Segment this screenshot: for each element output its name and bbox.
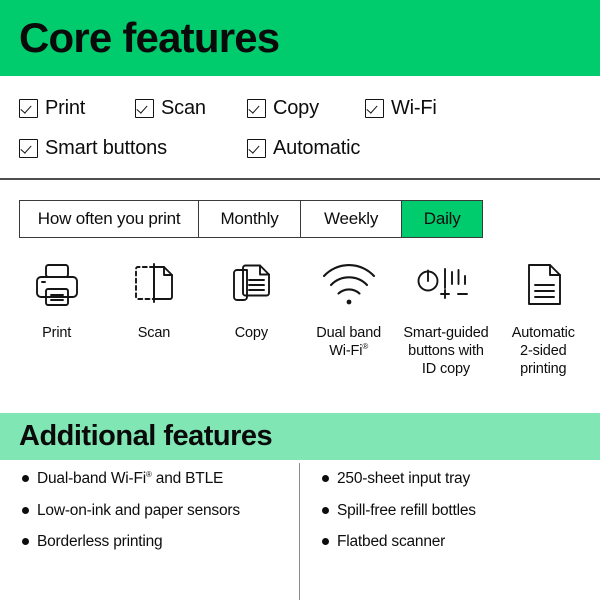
trademark-symbol: ® (362, 342, 368, 351)
bullet-dot-icon (22, 475, 29, 482)
frequency-option-monthly[interactable]: Monthly (199, 201, 301, 237)
feature-print: Print (8, 254, 105, 342)
print-frequency-section: How often you print Monthly Weekly Daily (0, 180, 600, 238)
bullet-dot-icon (322, 507, 329, 514)
feature-copy: Copy (203, 254, 300, 342)
checkbox-checked-icon[interactable] (247, 139, 266, 158)
bullet-list: Dual-band Wi-Fi® and BTLE Low-on-ink and… (22, 471, 299, 550)
checkbox-label: Scan (161, 98, 206, 118)
copy-icon (225, 254, 277, 316)
checkbox-label: Wi-Fi (391, 98, 437, 118)
checkbox-label: Copy (273, 98, 319, 118)
checkbox-label: Automatic (273, 138, 360, 158)
list-item-text: Borderless printing (37, 534, 162, 550)
list-item-text: Spill-free refill bottles (337, 503, 476, 519)
checkbox-checked-icon[interactable] (19, 99, 38, 118)
bullet-list: 250-sheet input tray Spill-free refill b… (322, 471, 600, 550)
bullet-dot-icon (22, 538, 29, 545)
checkbox-checked-icon[interactable] (19, 139, 38, 158)
frequency-option-daily-selected[interactable]: Daily (402, 201, 482, 237)
feature-smart-guided-buttons: Smart-guided buttons with ID copy (397, 254, 494, 378)
additional-features-left-column: Dual-band Wi-Fi® and BTLE Low-on-ink and… (0, 463, 299, 600)
checkbox-row-1: Print Scan Copy Wi-Fi (19, 88, 600, 128)
checkbox-checked-icon[interactable] (135, 99, 154, 118)
checkbox-checked-icon[interactable] (247, 99, 266, 118)
scan-icon (128, 254, 180, 316)
list-item: 250-sheet input tray (322, 471, 600, 487)
additional-features-columns: Dual-band Wi-Fi® and BTLE Low-on-ink and… (0, 463, 600, 600)
list-item-text: Low-on-ink and paper sensors (37, 503, 240, 519)
feature-caption: Automatic 2-sided printing (512, 324, 575, 378)
bullet-dot-icon (322, 475, 329, 482)
checkbox-row-2: Smart buttons Automatic (19, 128, 600, 168)
checkbox-item-scan[interactable]: Scan (135, 98, 247, 118)
feature-dual-band-wifi: Dual bandWi-Fi® (300, 254, 397, 360)
checkbox-label: Print (45, 98, 85, 118)
checkbox-item-smart-buttons[interactable]: Smart buttons (19, 138, 247, 158)
checkbox-item-wifi[interactable]: Wi-Fi (365, 98, 437, 118)
list-item: Spill-free refill bottles (322, 503, 600, 519)
smart-buttons-icon (414, 254, 478, 316)
additional-features-header: Additional features (0, 413, 600, 460)
list-item-text: 250-sheet input tray (337, 471, 470, 487)
additional-features-title: Additional features (19, 422, 272, 451)
bullet-dot-icon (322, 538, 329, 545)
list-item-text: Dual-band Wi-Fi® and BTLE (37, 471, 223, 487)
checkbox-checked-icon[interactable] (365, 99, 384, 118)
printer-icon (31, 254, 83, 316)
checkbox-label: Smart buttons (45, 138, 167, 158)
feature-automatic-2-sided: Automatic 2-sided printing (495, 254, 592, 378)
core-features-title: Core features (19, 17, 279, 59)
duplex-document-icon (517, 254, 569, 316)
feature-scan: Scan (105, 254, 202, 342)
feature-caption: Scan (138, 324, 170, 342)
bullet-dot-icon (22, 507, 29, 514)
feature-icon-strip: Print Scan Copy (0, 238, 600, 378)
print-frequency-table: How often you print Monthly Weekly Daily (19, 200, 483, 238)
list-item: Dual-band Wi-Fi® and BTLE (22, 471, 299, 487)
core-features-header: Core features (0, 0, 600, 76)
wifi-icon (319, 254, 379, 316)
checkbox-item-copy[interactable]: Copy (247, 98, 365, 118)
frequency-option-weekly[interactable]: Weekly (301, 201, 403, 237)
list-item: Borderless printing (22, 534, 299, 550)
additional-features-right-column: 250-sheet input tray Spill-free refill b… (299, 463, 600, 600)
list-item-text: Flatbed scanner (337, 534, 445, 550)
frequency-question-cell: How often you print (20, 201, 199, 237)
list-item: Flatbed scanner (322, 534, 600, 550)
feature-caption: Print (42, 324, 71, 342)
core-features-checkbox-grid: Print Scan Copy Wi-Fi Smart buttons Auto… (0, 76, 600, 178)
wifi-caption-line2: Wi-Fi (329, 343, 362, 359)
feature-caption: Copy (235, 324, 268, 342)
feature-caption: Dual bandWi-Fi® (316, 324, 381, 360)
wifi-caption-line1: Dual band (316, 325, 381, 341)
checkbox-item-automatic[interactable]: Automatic (247, 138, 360, 158)
checkbox-item-print[interactable]: Print (19, 98, 135, 118)
feature-caption: Smart-guided buttons with ID copy (403, 324, 488, 378)
list-item: Low-on-ink and paper sensors (22, 503, 299, 519)
